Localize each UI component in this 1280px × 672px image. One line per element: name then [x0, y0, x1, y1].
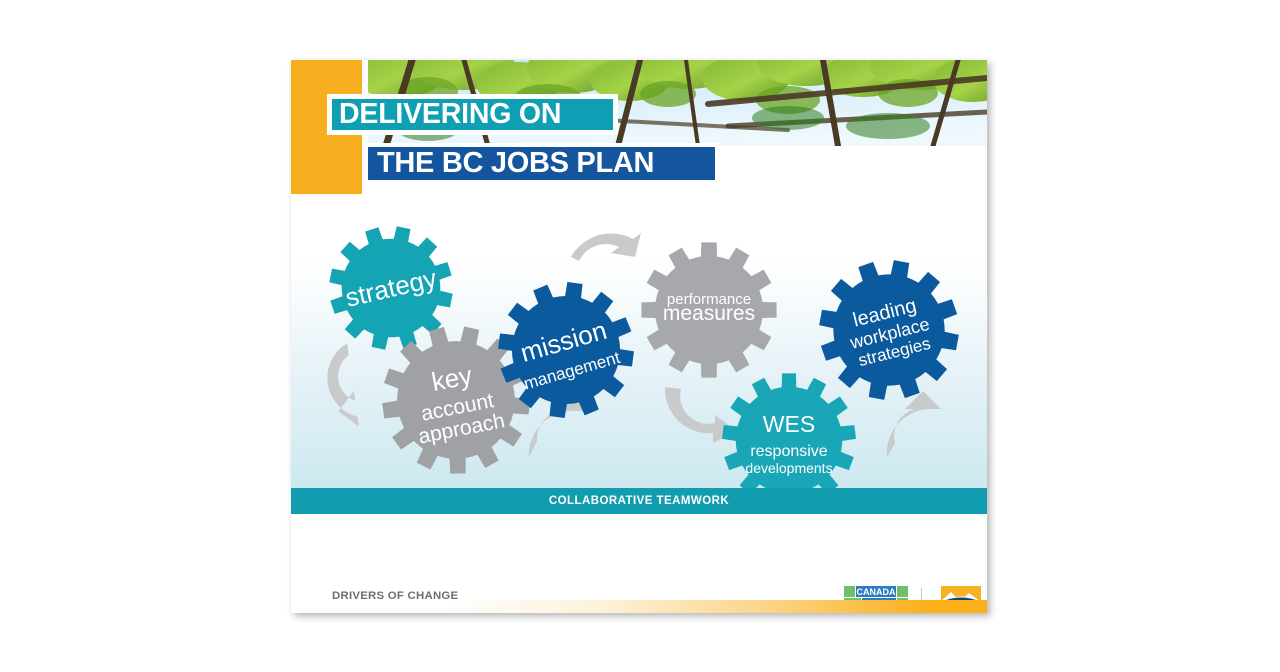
bc-jobs-plan-poster: DELIVERING ON THE BC JOBS PLAN — [291, 60, 987, 613]
gear-label-line: WES — [763, 411, 815, 437]
arrow-mission-to-performance — [571, 233, 641, 261]
poster-footer: DRIVERS OF CHANGE Intensifying Global Co… — [291, 514, 987, 613]
poster-title-line-2-text: THE BC JOBS PLAN — [368, 149, 654, 178]
canada-logo-line1: CANADA — [857, 587, 896, 597]
gear-label-line: responsive — [750, 443, 827, 460]
gear-label-line: developments — [745, 460, 832, 476]
poster-title-line-2: THE BC JOBS PLAN — [368, 143, 719, 184]
gear-label-line: measures — [663, 302, 755, 325]
arrow-wes-to-leading — [887, 391, 941, 457]
poster-header: DELIVERING ON THE BC JOBS PLAN — [291, 60, 987, 195]
gear-diagram: strategykeyaccountapproachmissionmanagem… — [291, 195, 987, 488]
poster-title-line-1: DELIVERING ON — [327, 94, 618, 135]
collaborative-teamwork-label: COLLABORATIVE TEAMWORK — [549, 495, 729, 507]
gear-label-performance-measures: performancemeasures — [663, 291, 755, 325]
screenshot-canvas: DELIVERING ON THE BC JOBS PLAN — [0, 0, 1280, 672]
collaborative-teamwork-band: COLLABORATIVE TEAMWORK — [291, 488, 987, 514]
poster-title-line-1-text: DELIVERING ON — [332, 100, 561, 129]
bottom-gradient-strip — [291, 600, 987, 613]
arrow-strategy-to-key — [323, 343, 359, 430]
